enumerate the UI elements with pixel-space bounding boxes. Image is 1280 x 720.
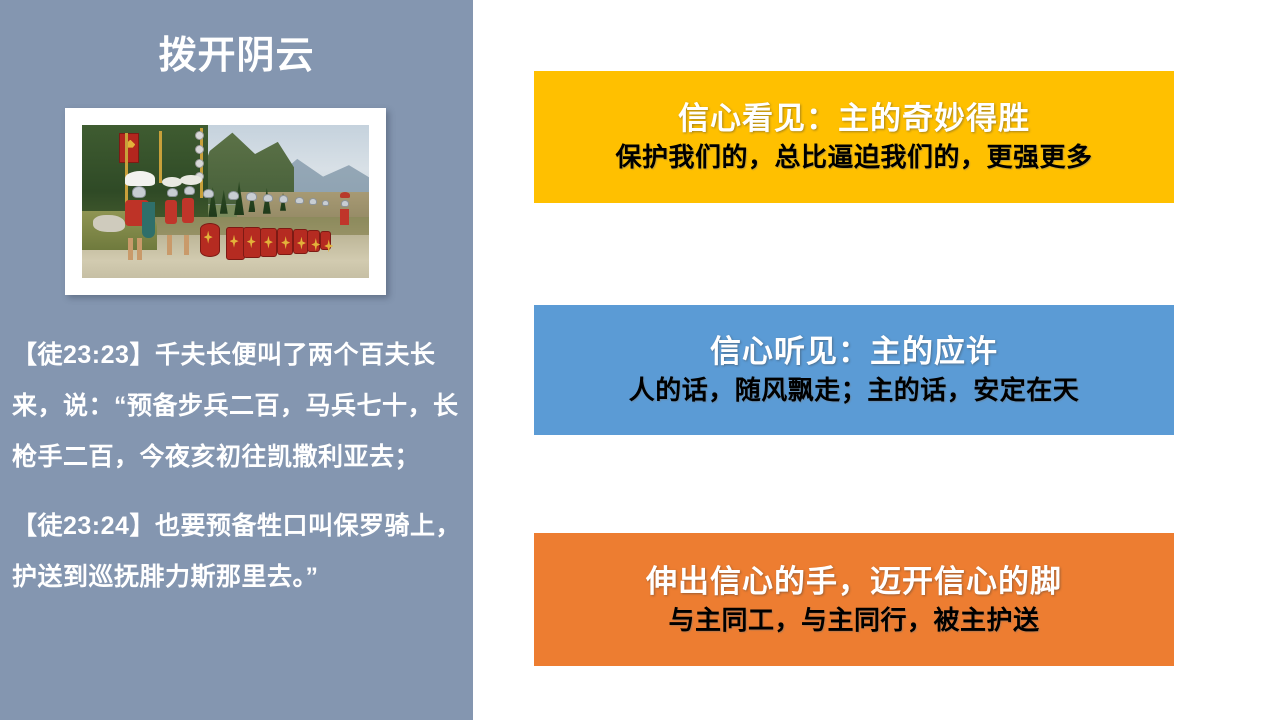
helmet-icon xyxy=(263,194,273,202)
helmet-icon xyxy=(246,192,257,201)
shield-icon xyxy=(243,227,261,258)
point-title: 伸出信心的手，迈开信心的脚 xyxy=(646,562,1062,602)
rock xyxy=(93,215,125,232)
officer-cloak xyxy=(142,202,155,238)
shield-icon xyxy=(200,223,220,257)
page-title: 拨开阴云 xyxy=(0,33,473,79)
shield-icon xyxy=(293,229,308,254)
shield-icon xyxy=(260,228,277,257)
helmet-icon xyxy=(167,188,178,197)
scripture-block: 【徒23:23】千夫长便叫了两个百夫长来，说：“预备步兵二百，马兵七十，长枪手二… xyxy=(12,330,464,621)
point-subtitle: 人的话，随风飘走；主的话，安定在天 xyxy=(629,372,1080,408)
illustration-frame xyxy=(65,108,386,295)
left-panel: 拨开阴云 xyxy=(0,0,473,720)
soldier-tunic xyxy=(340,209,349,225)
soldier-leg xyxy=(167,235,172,255)
helmet-icon xyxy=(228,191,239,200)
helmet-icon xyxy=(322,200,329,206)
point-title: 信心听见：主的应许 xyxy=(710,332,998,372)
scripture-verse: 【徒23:24】也要预备牲口叫保罗骑上，护送到巡抚腓力斯那里去。” xyxy=(12,501,464,603)
officer-leg xyxy=(128,238,133,260)
roman-legion-illustration xyxy=(82,125,369,278)
officer-leg xyxy=(137,238,142,260)
trailing-crest xyxy=(340,192,350,198)
shield-icon xyxy=(307,230,320,252)
shield-icon xyxy=(320,231,331,250)
helmet-icon xyxy=(309,198,317,205)
slide-canvas: 拨开阴云 xyxy=(0,0,1280,720)
shield-icon xyxy=(277,228,293,255)
standard-pole xyxy=(159,131,162,183)
soldier-tunic xyxy=(165,200,177,224)
point-title: 信心看见：主的奇妙得胜 xyxy=(678,99,1030,139)
point-box-faith-sees[interactable]: 信心看见：主的奇妙得胜 保护我们的，总比逼迫我们的，更强更多 xyxy=(534,71,1174,203)
helmet-icon xyxy=(203,189,214,198)
point-subtitle: 保护我们的，总比逼迫我们的，更强更多 xyxy=(615,139,1092,175)
helmet-icon xyxy=(341,200,349,207)
shield-icon xyxy=(226,227,245,260)
helmet-icon xyxy=(132,186,146,198)
point-box-faith-acts[interactable]: 伸出信心的手，迈开信心的脚 与主同工，与主同行，被主护送 xyxy=(534,533,1174,666)
soldier-tunic xyxy=(182,198,194,223)
point-subtitle: 与主同工，与主同行，被主护送 xyxy=(668,602,1039,638)
soldier-leg xyxy=(184,235,189,255)
standard-disc xyxy=(195,159,204,168)
centurion-crest xyxy=(125,171,155,186)
scripture-verse: 【徒23:23】千夫长便叫了两个百夫长来，说：“预备步兵二百，马兵七十，长枪手二… xyxy=(12,330,464,483)
banner-icon xyxy=(119,133,139,163)
helmet-icon xyxy=(295,197,304,204)
point-box-faith-hears[interactable]: 信心听见：主的应许 人的话，随风飘走；主的话，安定在天 xyxy=(534,305,1174,435)
helmet-icon xyxy=(184,186,195,195)
